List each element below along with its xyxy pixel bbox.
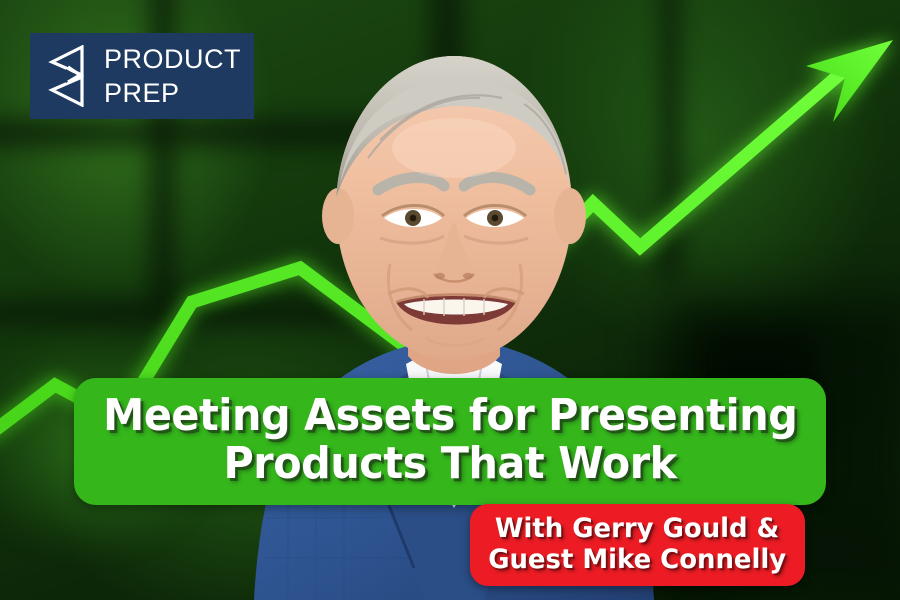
brand-logo[interactable]: PRODUCT PREP bbox=[30, 33, 254, 119]
title-line-1: Meeting Assets for Presenting bbox=[103, 392, 797, 439]
title-line-2: Products That Work bbox=[223, 440, 676, 487]
subtitle-banner: With Gerry Gould & Guest Mike Connelly bbox=[470, 504, 805, 586]
subtitle-line-1: With Gerry Gould & bbox=[495, 514, 779, 545]
title-banner: Meeting Assets for Presenting Products T… bbox=[74, 378, 826, 505]
thumbnail-canvas: PRODUCT PREP Meeting Assets for Presenti… bbox=[0, 0, 900, 600]
bowtie-chevron-mark-icon bbox=[44, 45, 90, 107]
brand-line-1: PRODUCT bbox=[104, 46, 241, 73]
brand-wordmark: PRODUCT PREP bbox=[104, 46, 241, 107]
subtitle-line-2: Guest Mike Connelly bbox=[489, 545, 787, 576]
brand-line-2: PREP bbox=[104, 80, 241, 107]
